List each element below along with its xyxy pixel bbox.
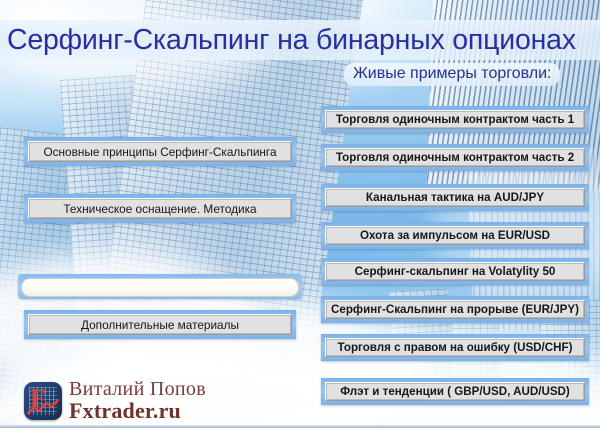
- single-contract-part1-label[interactable]: Торговля одиночным контрактом часть 1: [325, 110, 585, 129]
- impulse-hunt-eurusd-label[interactable]: Охота за импульсом на EUR/USD: [325, 226, 585, 245]
- trade-with-error-right-usdchf-label[interactable]: Торговля с правом на ошибку (USD/CHF): [325, 338, 585, 357]
- impulse-hunt-eurusd-button[interactable]: Охота за импульсом на EUR/USD: [321, 222, 589, 249]
- extra-materials-button-label[interactable]: Дополнительные материалы: [28, 314, 292, 335]
- single-contract-part1-button[interactable]: Торговля одиночным контрактом часть 1: [321, 106, 589, 133]
- flat-and-trends-label[interactable]: Флэт и тенденции ( GBP/USD, AUD/USD): [325, 382, 585, 401]
- brand-site-name: Fxtrader.ru: [69, 400, 206, 422]
- breakout-eurjpy-button[interactable]: Серфинг-Скальпинг на прорыве (EUR/JPY): [321, 296, 589, 323]
- surfing-scalping-volatility50-button[interactable]: Серфинг-скальпинг на Volatylity 50: [321, 258, 589, 285]
- principles-button[interactable]: Основные принципы Серфинг-Скальпинга: [24, 137, 296, 166]
- trade-with-error-right-usdchf-button[interactable]: Торговля с правом на ошибку (USD/CHF): [321, 334, 589, 361]
- fxtrader-logo-icon: F: [24, 382, 62, 420]
- title-banner: Серфинг-Скальпинг на бинарных опционах: [0, 20, 600, 60]
- page-title: Серфинг-Скальпинг на бинарных опционах: [0, 26, 576, 55]
- breakout-eurjpy-label[interactable]: Серфинг-Скальпинг на прорыве (EUR/JPY): [325, 300, 585, 319]
- text-input-field[interactable]: [21, 278, 299, 297]
- flat-and-trends-button[interactable]: Флэт и тенденции ( GBP/USD, AUD/USD): [321, 378, 589, 405]
- brand-text: Виталий Попов Fxtrader.ru: [69, 379, 206, 422]
- subtitle-label: Живые примеры торговли:: [344, 63, 560, 86]
- technique-button[interactable]: Техническое оснащение. Методика: [24, 194, 296, 223]
- application-window: Серфинг-Скальпинг на бинарных опционах Ж…: [0, 0, 600, 428]
- principles-button-label[interactable]: Основные принципы Серфинг-Скальпинга: [28, 141, 292, 162]
- surfing-scalping-volatility50-label[interactable]: Серфинг-скальпинг на Volatylity 50: [325, 262, 585, 281]
- single-contract-part2-label[interactable]: Торговля одиночным контрактом часть 2: [325, 148, 585, 167]
- brand-logo[interactable]: F Виталий Попов Fxtrader.ru: [24, 379, 206, 422]
- single-contract-part2-button[interactable]: Торговля одиночным контрактом часть 2: [321, 144, 589, 171]
- logo-chart-line-icon: [27, 399, 59, 415]
- technique-button-label[interactable]: Техническое оснащение. Методика: [28, 198, 292, 219]
- channel-tactic-audjpy-label[interactable]: Канальная тактика на AUD/JPY: [325, 188, 585, 207]
- extra-materials-button[interactable]: Дополнительные материалы: [24, 310, 296, 339]
- brand-author-name: Виталий Попов: [69, 379, 206, 399]
- text-field-container: [18, 274, 302, 299]
- channel-tactic-audjpy-button[interactable]: Канальная тактика на AUD/JPY: [321, 184, 589, 211]
